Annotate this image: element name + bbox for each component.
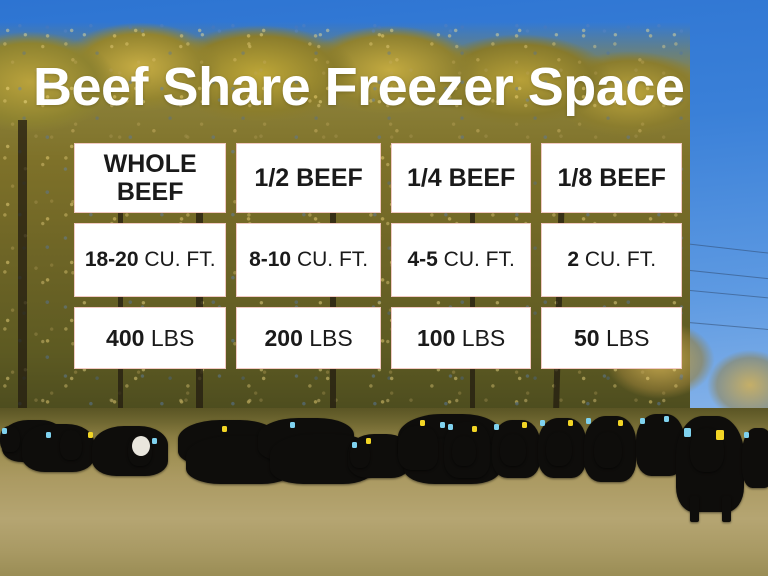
header-cell-eighth-beef: 1/8 BEEF (541, 143, 682, 213)
weight-unit: LBS (606, 325, 649, 351)
freezer-space-table: WHOLE BEEF 1/2 BEEF 1/4 BEEF 1/8 BEEF 18… (74, 143, 682, 369)
ear-tag (494, 424, 499, 430)
ear-tag (46, 432, 51, 438)
volume-cell-quarter-beef: 4-5 CU. FT. (391, 223, 532, 297)
volume-unit: CU. FT. (585, 248, 656, 271)
ear-tag (716, 430, 724, 440)
table-row-headers: WHOLE BEEF 1/2 BEEF 1/4 BEEF 1/8 BEEF (74, 143, 682, 213)
cattle-herd (0, 392, 768, 512)
volume-cell-whole-beef: 18-20 CU. FT. (74, 223, 226, 297)
ear-tag (420, 420, 425, 426)
ear-tag (472, 426, 477, 432)
cow-head (500, 434, 526, 466)
weight-unit: LBS (309, 325, 352, 351)
cow-head (452, 436, 476, 466)
weight-value: 200 (264, 325, 302, 351)
ear-tag (618, 420, 623, 426)
ear-tag (290, 422, 295, 428)
weight-cell-eighth-beef: 50 LBS (541, 307, 682, 369)
cow-head (546, 432, 572, 466)
cow-face-blaze (132, 436, 150, 456)
table-row-weight: 400 LBS 200 LBS 100 LBS 50 LBS (74, 307, 682, 369)
tree-trunk (18, 120, 27, 420)
ear-tag (152, 438, 157, 444)
cow-head (594, 432, 622, 468)
cow-leg (690, 496, 699, 522)
volume-value: 8-10 (249, 248, 291, 271)
ear-tag (88, 432, 93, 438)
ear-tag (684, 428, 691, 437)
ear-tag (2, 428, 7, 434)
volume-value: 18-20 (85, 248, 139, 271)
cow-head (60, 430, 82, 460)
table-row-volume: 18-20 CU. FT. 8-10 CU. FT. 4-5 CU. FT. 2… (74, 223, 682, 297)
header-cell-whole-beef: WHOLE BEEF (74, 143, 226, 213)
cow (398, 426, 438, 470)
cow (22, 424, 94, 472)
volume-unit: CU. FT. (144, 248, 215, 271)
header-cell-half-beef: 1/2 BEEF (236, 143, 381, 213)
ear-tag (522, 422, 527, 428)
cow-leg (722, 496, 731, 522)
weight-unit: LBS (151, 325, 194, 351)
volume-unit: CU. FT. (297, 248, 368, 271)
ear-tag (448, 424, 453, 430)
ear-tag (540, 420, 545, 426)
weight-cell-half-beef: 200 LBS (236, 307, 381, 369)
weight-value: 50 (574, 325, 600, 351)
ear-tag (440, 422, 445, 428)
ear-tag (586, 418, 591, 424)
volume-unit: CU. FT. (444, 248, 515, 271)
ear-tag (744, 432, 749, 438)
ear-tag (568, 420, 573, 426)
volume-value: 4-5 (407, 248, 437, 271)
volume-cell-half-beef: 8-10 CU. FT. (236, 223, 381, 297)
infographic-canvas: Beef Share Freezer Space WHOLE BEEF 1/2 … (0, 0, 768, 576)
weight-unit: LBS (462, 325, 505, 351)
weight-value: 400 (106, 325, 144, 351)
volume-cell-eighth-beef: 2 CU. FT. (541, 223, 682, 297)
weight-cell-quarter-beef: 100 LBS (391, 307, 532, 369)
volume-value: 2 (567, 248, 579, 271)
ear-tag (664, 416, 669, 422)
ear-tag (640, 418, 645, 424)
ear-tag (352, 442, 357, 448)
ear-tag (222, 426, 227, 432)
weight-cell-whole-beef: 400 LBS (74, 307, 226, 369)
ear-tag (366, 438, 371, 444)
header-cell-quarter-beef: 1/4 BEEF (391, 143, 532, 213)
weight-value: 100 (417, 325, 455, 351)
page-title: Beef Share Freezer Space (33, 60, 684, 114)
